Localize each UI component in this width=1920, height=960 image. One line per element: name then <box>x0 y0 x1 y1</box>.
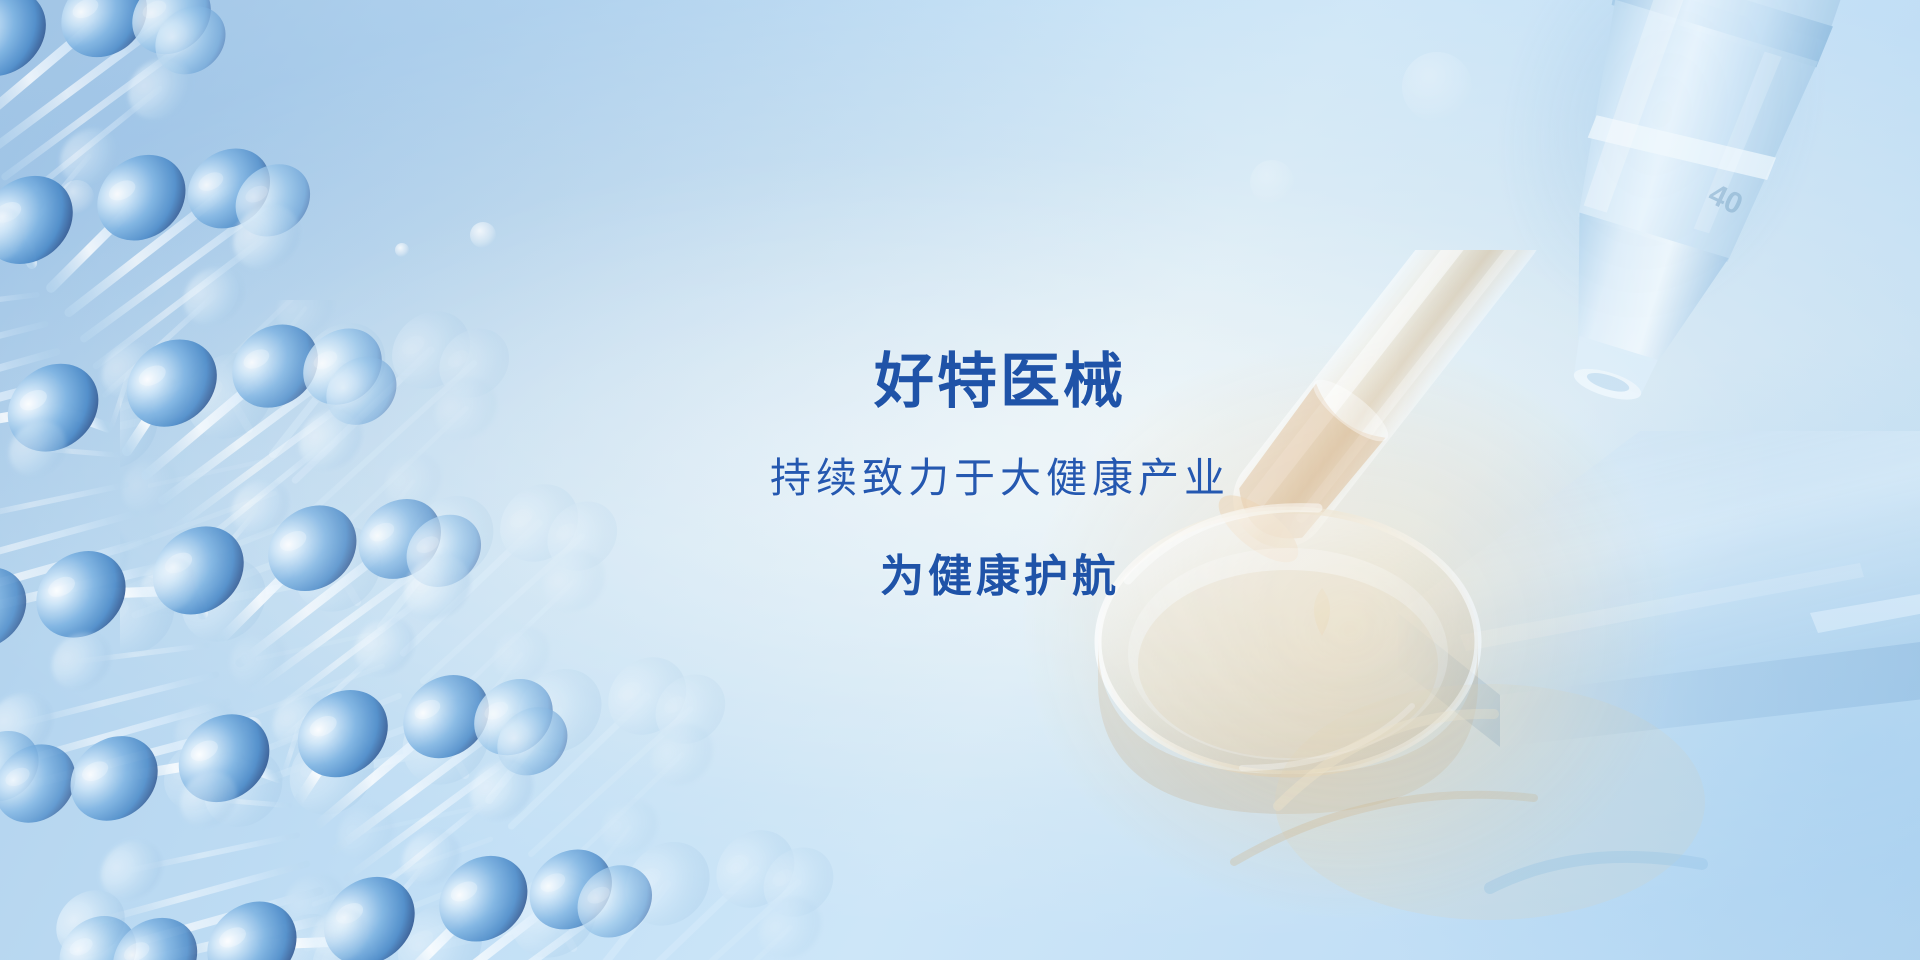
bokeh-light-spot <box>395 243 409 257</box>
hero-banner: 40 <box>0 0 1920 960</box>
dna-double-helix-faded-icon <box>120 300 880 960</box>
dna-double-helix-icon <box>0 0 670 960</box>
bokeh-light-spot <box>1250 160 1294 204</box>
microscope-stage <box>1340 395 1920 815</box>
bokeh-light-spot <box>243 717 262 736</box>
bokeh-light-spot <box>470 222 496 248</box>
banner-subtitle: 持续致力于大健康产业 <box>770 458 1230 499</box>
banner-tagline: 为健康护航 <box>880 555 1120 599</box>
test-tube-and-petri-dish <box>1020 250 1720 930</box>
microscope-objective-lens-icon: 40 <box>1390 0 1920 530</box>
microscope-magnification-label: 40 <box>1703 178 1747 222</box>
background-haze <box>0 0 1920 960</box>
banner-copy: 好特医械 持续致力于大健康产业 为健康护航 <box>0 352 1920 599</box>
bokeh-light-spot <box>1402 52 1472 122</box>
bokeh-light-spot <box>60 180 94 214</box>
page-title: 好特医械 <box>874 352 1126 412</box>
